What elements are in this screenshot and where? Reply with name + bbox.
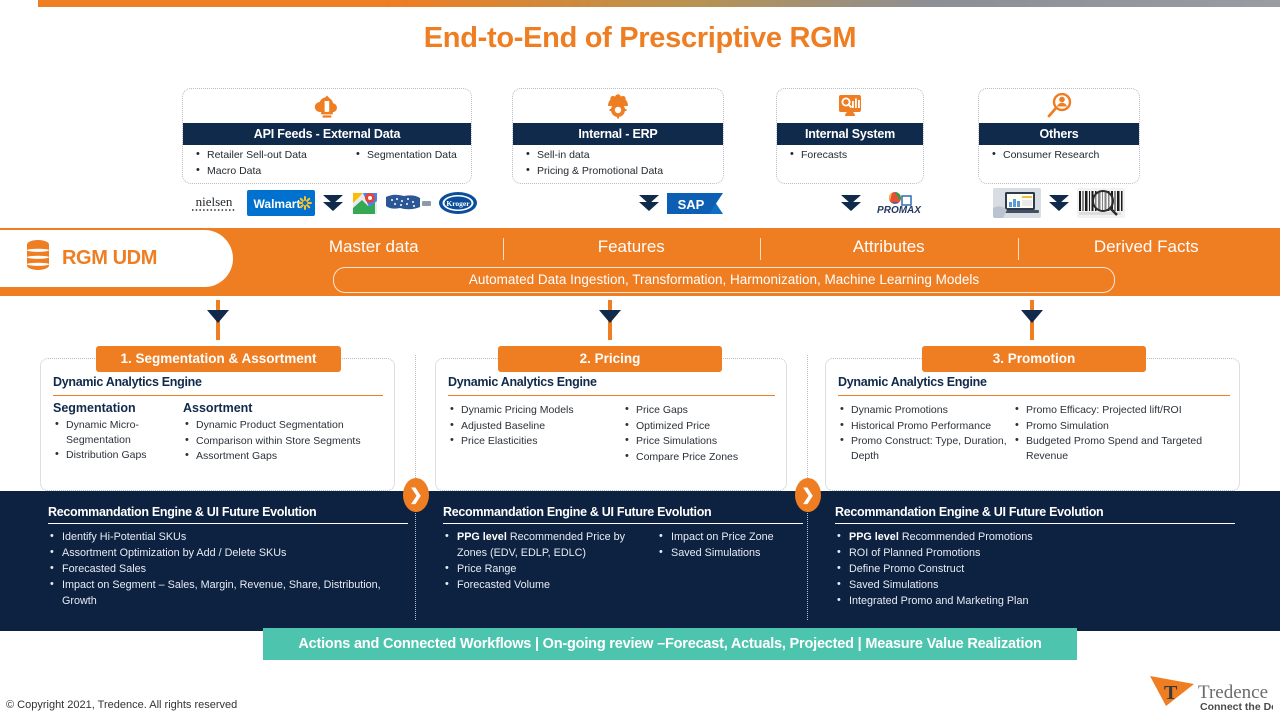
udm-tab-list: Master data Features Attributes Derived … [245, 237, 1275, 257]
rec-bullet: Impact on Segment – Sales, Margin, Reven… [48, 577, 408, 609]
nielsen-logo: nielsen [186, 190, 242, 216]
pillar-bullet: Promo Simulation [1013, 419, 1236, 434]
promax-logo: PROMAX [869, 190, 931, 216]
analytics-search-icon [777, 93, 923, 123]
source-logos-api: nielsen Walmart Kroger [186, 190, 479, 216]
rec-block-pricing: Recommandation Engine & UI Future Evolut… [443, 505, 803, 593]
svg-text:SAP: SAP [678, 197, 705, 212]
udm-subtitle: Automated Data Ingestion, Transformation… [333, 267, 1115, 293]
rec-title: Recommandation Engine & UI Future Evolut… [835, 505, 1235, 519]
pillar-bullet: Historical Promo Performance [838, 419, 1013, 434]
pillar-bullet: Dynamic Product Segmentation [183, 418, 388, 433]
rec-bullet: Price Range [443, 561, 657, 577]
pillar-bullet: Optimized Price [623, 419, 780, 434]
page-title: End-to-End of Prescriptive RGM [0, 22, 1280, 55]
svg-text:T: T [1164, 682, 1178, 704]
source-bullet: Pricing & Promotional Data [523, 164, 713, 179]
pillar-bullet: Price Simulations [623, 434, 780, 449]
svg-text:PROMAX: PROMAX [877, 205, 922, 216]
rec-rule [443, 523, 803, 524]
svg-text:nielsen: nielsen [196, 194, 233, 209]
column-heading: Segmentation [53, 401, 183, 415]
arrow-down-icon [1046, 190, 1072, 216]
source-card-title: Others [979, 123, 1139, 145]
rec-title: Recommandation Engine & UI Future Evolut… [48, 505, 408, 519]
source-bullet: Segmentation Data [353, 148, 461, 163]
rec-bullet: Integrated Promo and Marketing Plan [835, 593, 1235, 609]
pillar-tab-segmentation[interactable]: 1. Segmentation & Assortment [96, 346, 341, 372]
rec-bullet: Assortment Optimization by Add / Delete … [48, 545, 408, 561]
arrow-down-icon [636, 190, 662, 216]
pillar-tab-promotion[interactable]: 3. Promotion [922, 346, 1146, 372]
source-logos-internal: PROMAX [838, 190, 931, 216]
rec-bullet: Identify Hi-Potential SKUs [48, 529, 408, 545]
pillar-bullet: Dynamic Pricing Models [448, 403, 623, 418]
rec-bullet: Define Promo Construct [835, 561, 1235, 577]
rgm-udm-label: RGM UDM [62, 247, 157, 270]
us-map-data-logo [384, 190, 432, 216]
pillar-bullet: Assortment Gaps [183, 449, 388, 464]
source-card-title: Internal - ERP [513, 123, 723, 145]
source-logos-erp: SAP [636, 190, 725, 216]
rec-rule [835, 523, 1235, 524]
rec-bullet-text: Recommended Promotions [899, 531, 1033, 543]
sap-logo: SAP [667, 190, 725, 216]
google-maps-logo [351, 190, 379, 216]
rgm-udm-pill: RGM UDM [0, 230, 233, 287]
footer-banner: Actions and Connected Workflows | On-goi… [263, 628, 1077, 660]
engine-rule [838, 395, 1230, 396]
pillar-bullet: Distribution Gaps [53, 448, 183, 463]
source-logos-others [993, 188, 1125, 218]
rec-bullet: PPG level Recommended Price by Zones (ED… [443, 529, 657, 561]
rec-title: Recommandation Engine & UI Future Evolut… [443, 505, 803, 519]
rec-rule [48, 523, 408, 524]
cloud-upload-icon [183, 93, 471, 123]
svg-text:Walmart: Walmart [254, 197, 301, 211]
pillar-bullet: Dynamic Promotions [838, 403, 1013, 418]
kroger-logo: Kroger [437, 190, 479, 216]
rec-bullet: Saved Simulations [657, 545, 803, 561]
arrow-down-icon [838, 190, 864, 216]
source-bullet: Retailer Sell-out Data [193, 148, 353, 163]
source-card-title: API Feeds - External Data [183, 123, 471, 145]
source-bullet: Macro Data [193, 164, 353, 179]
source-card-title: Internal System [777, 123, 923, 145]
rec-bullet: Impact on Price Zone [657, 529, 803, 545]
svg-text:Connect the Dots: Connect the Dots [1200, 701, 1273, 713]
source-card-others: Others Consumer Research [978, 88, 1140, 184]
arrow-down-icon [320, 190, 346, 216]
connector-chevron-3 [1021, 310, 1043, 323]
barcode-magnifier-photo [1077, 188, 1125, 218]
udm-tab-master-data[interactable]: Master data [245, 237, 503, 257]
walmart-logo: Walmart [247, 190, 315, 216]
pillar-card-promotion: Dynamic Analytics Engine Dynamic Promoti… [825, 358, 1240, 491]
engine-title: Dynamic Analytics Engine [838, 375, 987, 389]
pillar-bullet: Promo Efficacy: Projected lift/ROI [1013, 403, 1236, 418]
source-bullet: Forecasts [787, 148, 913, 163]
engine-title: Dynamic Analytics Engine [53, 375, 202, 389]
svg-text:Tredence: Tredence [1198, 682, 1268, 703]
pillar-bullet: Price Gaps [623, 403, 780, 418]
source-card-internal-system: Internal System Forecasts [776, 88, 924, 184]
udm-tab-features[interactable]: Features [503, 237, 761, 257]
engine-title: Dynamic Analytics Engine [448, 375, 597, 389]
pillar-bullet: Compare Price Zones [623, 450, 780, 465]
source-bullet: Consumer Research [989, 148, 1129, 163]
pillar-bullet: Comparison within Store Segments [183, 434, 388, 449]
svg-text:Kroger: Kroger [446, 199, 470, 208]
person-search-icon [979, 93, 1139, 123]
pillar-bullet: Price Elasticities [448, 434, 623, 449]
tredence-logo: T Tredence Connect the Dots [1148, 672, 1273, 712]
database-icon [24, 239, 52, 278]
laptop-analytics-photo [993, 188, 1041, 218]
rec-bullet-bold: PPG level [457, 531, 507, 543]
rec-bullet: Saved Simulations [835, 577, 1235, 593]
pillar-bullet: Budgeted Promo Spend and Targeted Revenu… [1013, 434, 1236, 463]
engine-rule [448, 395, 775, 396]
engine-rule [53, 395, 383, 396]
column-heading: Assortment [183, 401, 388, 415]
top-accent-bar [38, 0, 1280, 7]
pillar-bullet: Promo Construct: Type, Duration, Depth [838, 434, 1013, 463]
connector-chevron-2 [599, 310, 621, 323]
source-card-internal-erp: Internal - ERP Sell-in data Pricing & Pr… [512, 88, 724, 184]
pillar-tab-pricing[interactable]: 2. Pricing [498, 346, 722, 372]
connector-chevron-1 [207, 310, 229, 323]
source-card-api-feeds: API Feeds - External Data Retailer Sell-… [182, 88, 472, 184]
udm-tab-derived-facts[interactable]: Derived Facts [1018, 237, 1276, 257]
pillar-card-pricing: Dynamic Analytics Engine Dynamic Pricing… [435, 358, 787, 491]
rec-bullet: Forecasted Volume [443, 577, 657, 593]
copyright-text: © Copyright 2021, Tredence. All rights r… [6, 699, 237, 711]
rec-bullet: PPG level Recommended Promotions [835, 529, 1235, 545]
pillar-bullet: Adjusted Baseline [448, 419, 623, 434]
step-chevron-icon-1[interactable]: ❯ [403, 478, 429, 512]
rec-bullet: Forecasted Sales [48, 561, 408, 577]
pillar-bullet: Dynamic Micro-Segmentation [53, 418, 183, 447]
pillar-card-segmentation: Dynamic Analytics Engine Segmentation Dy… [40, 358, 395, 491]
people-gear-icon [513, 93, 723, 123]
rec-block-segmentation: Recommandation Engine & UI Future Evolut… [48, 505, 408, 609]
udm-tab-attributes[interactable]: Attributes [760, 237, 1018, 257]
rec-bullet-bold: PPG level [849, 531, 899, 543]
step-chevron-icon-2[interactable]: ❯ [795, 478, 821, 512]
rec-bullet: ROI of Planned Promotions [835, 545, 1235, 561]
source-bullet: Sell-in data [523, 148, 713, 163]
rec-block-promotion: Recommandation Engine & UI Future Evolut… [835, 505, 1235, 609]
